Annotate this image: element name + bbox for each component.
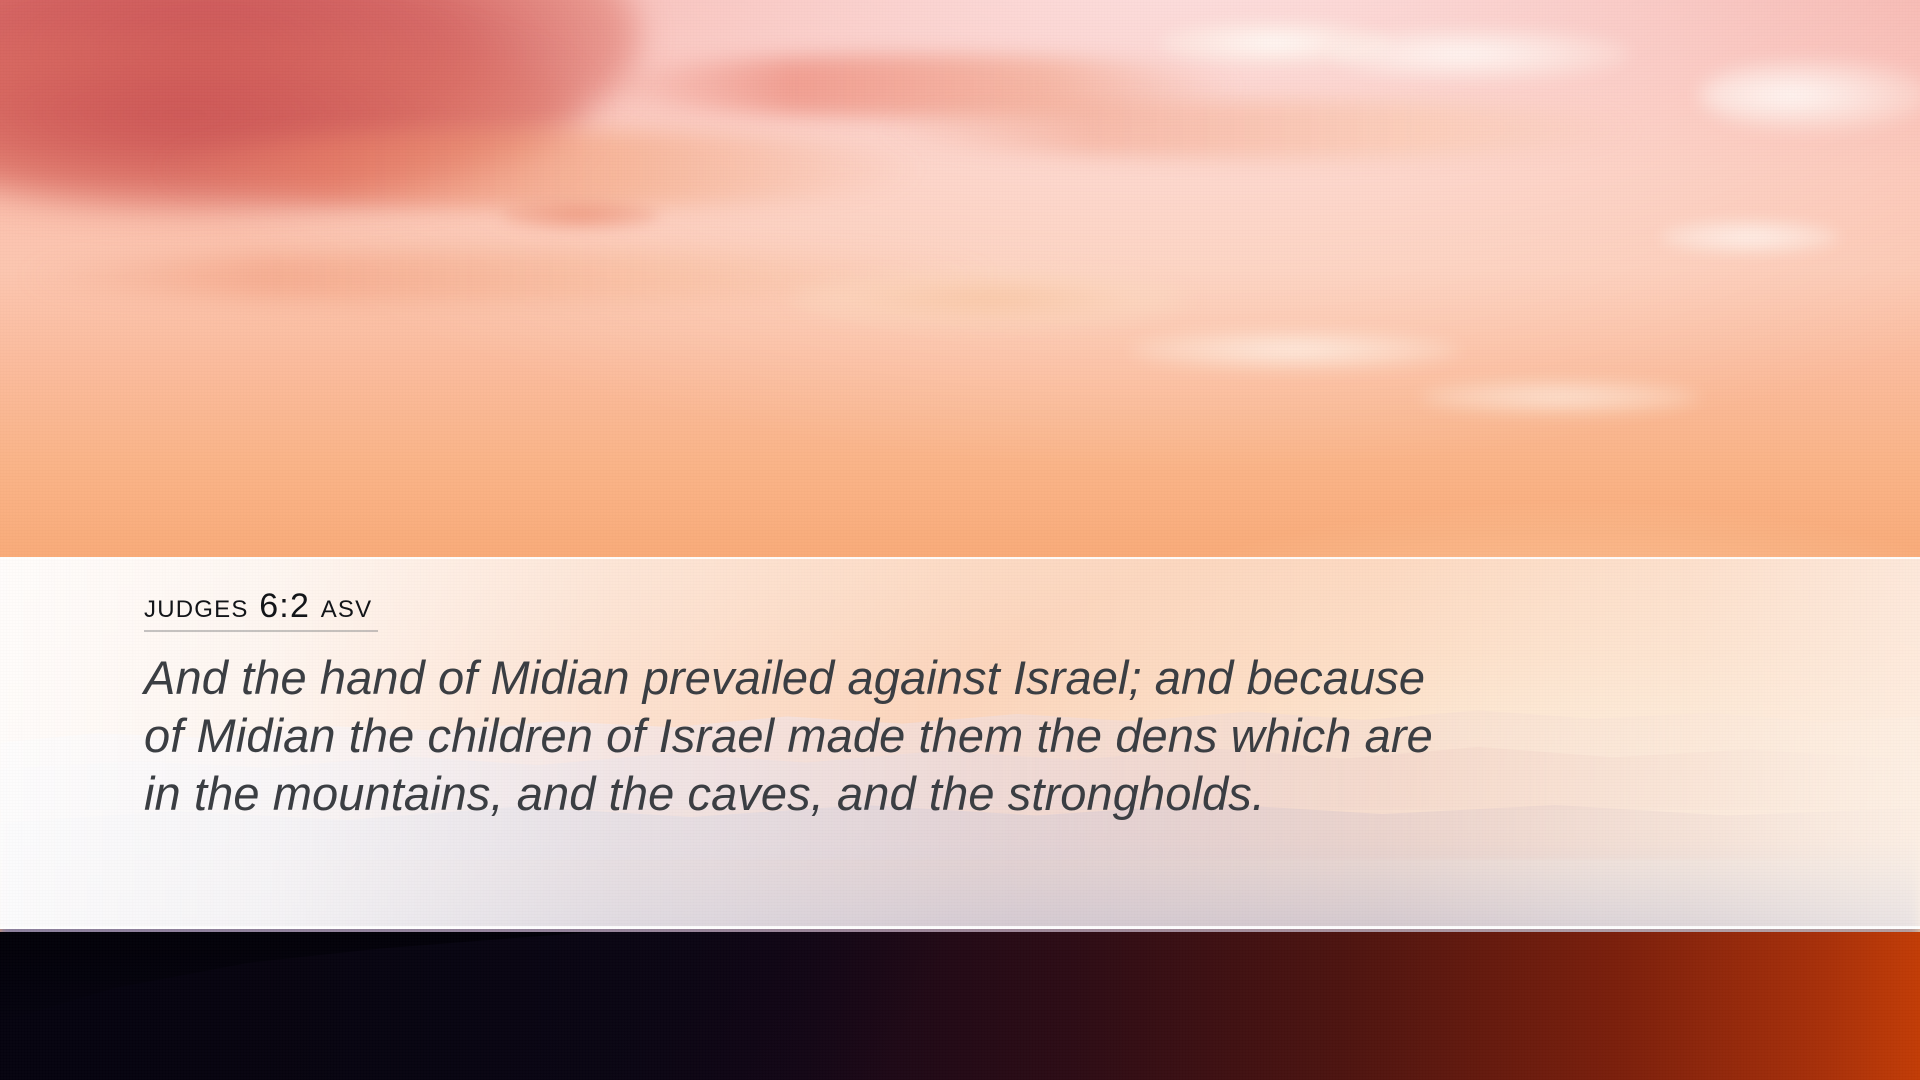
verse-line-3: in the mountains, and the caves, and the… (144, 765, 1784, 823)
foreground-dark-band (0, 932, 1920, 1080)
verse-line-2: of Midian the children of Israel made th… (144, 707, 1784, 765)
verse-line-1: And the hand of Midian prevailed against… (144, 649, 1784, 707)
verse-wallpaper: Judges 6:2 ASV And the hand of Midian pr… (0, 0, 1920, 1080)
verse-reference: Judges 6:2 ASV (144, 589, 378, 632)
foreground-ridge-silhouette (0, 932, 1920, 1022)
verse-text: And the hand of Midian prevailed against… (144, 649, 1784, 823)
verse-content: Judges 6:2 ASV And the hand of Midian pr… (144, 559, 1824, 926)
verse-overlay-panel: Judges 6:2 ASV And the hand of Midian pr… (0, 557, 1920, 929)
